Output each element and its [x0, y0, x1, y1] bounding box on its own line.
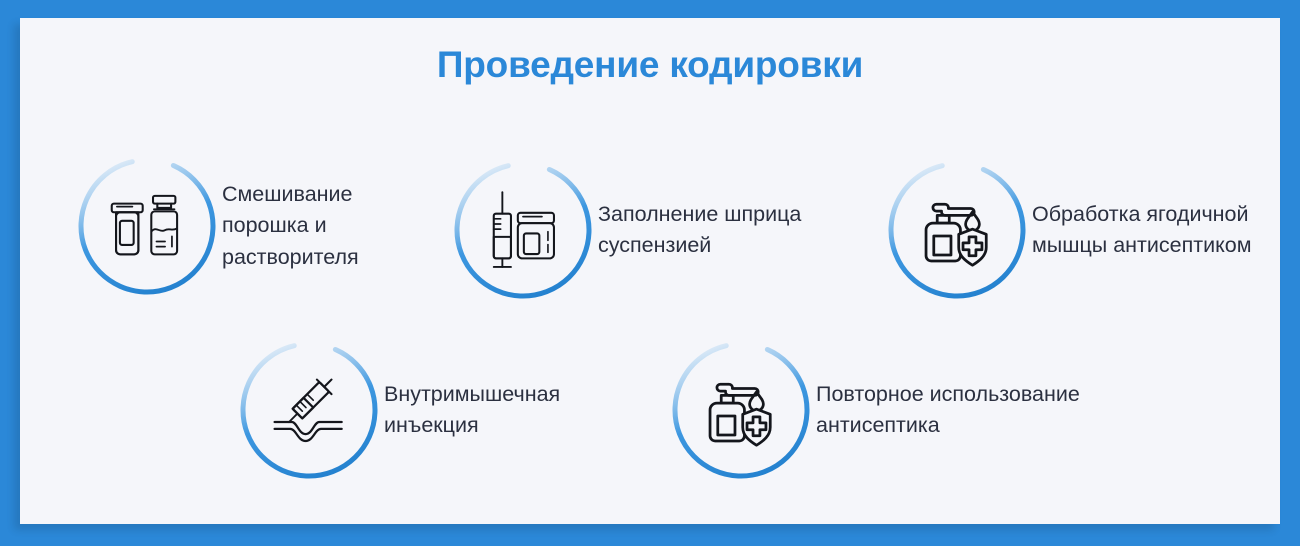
step-item-reuse-antiseptic[interactable]: Повторное использование антисептика — [672, 336, 1146, 484]
step-item-mixing[interactable]: Смешивание порошка и растворителя — [78, 152, 392, 300]
step-ring-0 — [78, 152, 216, 300]
syringe-and-vial-icon — [480, 187, 566, 273]
vial-and-bottle-icon — [104, 183, 190, 269]
antiseptic-dispenser-shield-icon — [914, 187, 1000, 273]
page-title: Проведение кодировки — [20, 44, 1280, 86]
step-label: Обработка ягодичной мышцы антисептиком — [1032, 199, 1294, 262]
infographic-frame: Проведение кодировки — [0, 0, 1300, 546]
step-label: Повторное использование антисептика — [816, 379, 1146, 442]
step-ring-2 — [888, 156, 1026, 304]
step-label: Смешивание порошка и растворителя — [222, 179, 392, 273]
antiseptic-dispenser-shield-icon — [698, 367, 784, 453]
step-label: Внутримышечная инъекция — [384, 379, 616, 442]
step-item-filling-syringe[interactable]: Заполнение шприца суспензией — [454, 156, 848, 304]
step-ring-1 — [454, 156, 592, 304]
step-item-antiseptic-gluteal[interactable]: Обработка ягодичной мышцы антисептиком — [888, 156, 1294, 304]
intramuscular-injection-icon — [266, 367, 352, 453]
step-item-intramuscular-injection[interactable]: Внутримышечная инъекция — [240, 336, 616, 484]
step-ring-3 — [240, 336, 378, 484]
step-label: Заполнение шприца суспензией — [598, 199, 848, 262]
step-ring-4 — [672, 336, 810, 484]
content-panel: Проведение кодировки — [20, 18, 1280, 524]
